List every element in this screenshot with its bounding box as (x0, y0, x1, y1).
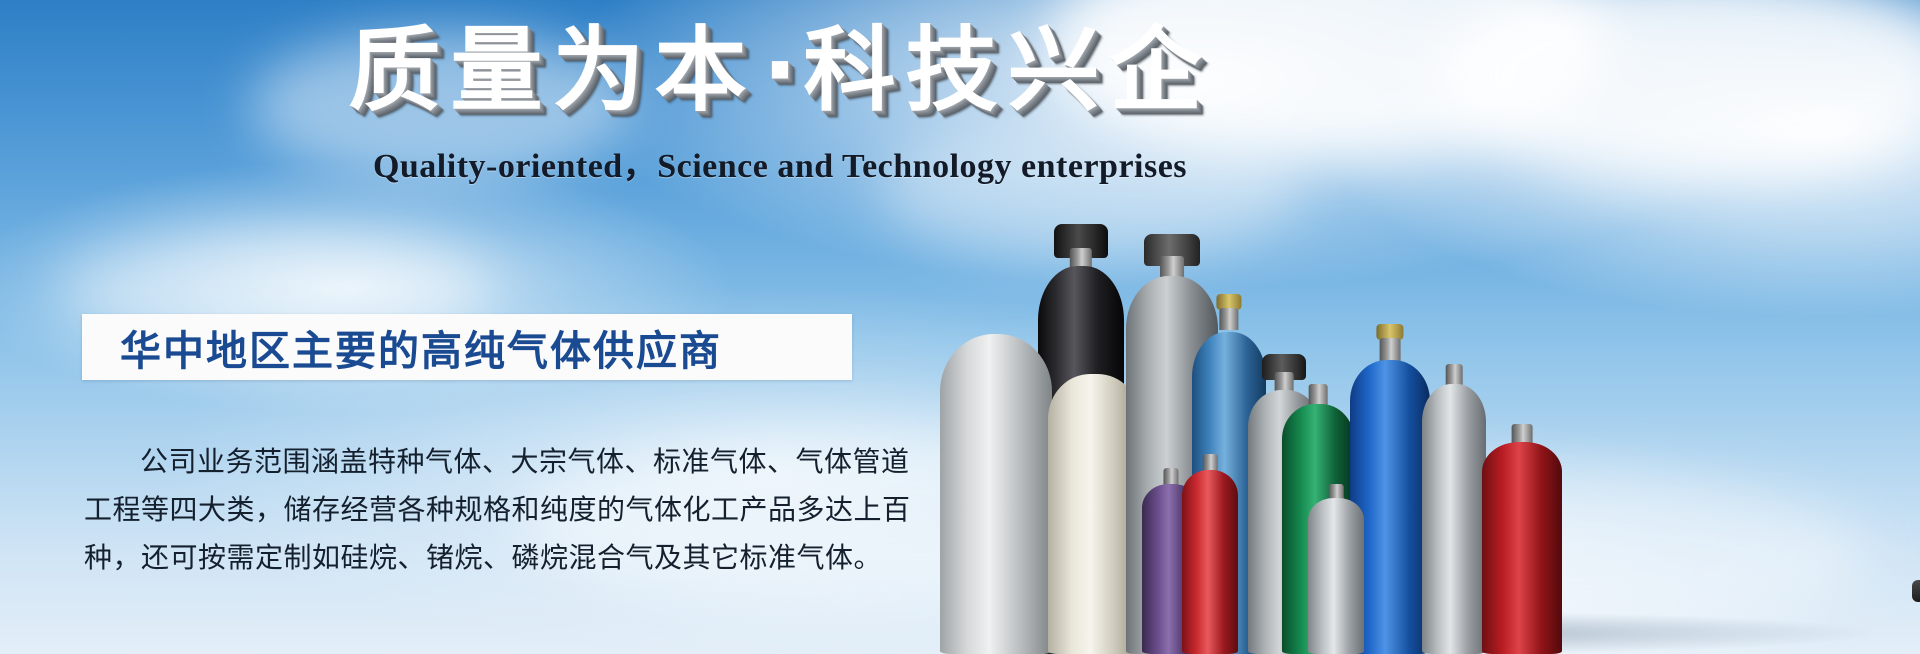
cylinder-red-small (1182, 454, 1238, 654)
highlight-text: 华中地区主要的高纯气体供应商 (82, 317, 722, 377)
paragraph-line-3: 种，还可按需定制如硅烷、锗烷、磷烷混合气及其它标准气体。 (84, 534, 874, 582)
paragraph-line-2: 工程等四大类，储存经营各种规格和纯度的气体化工产品多达上百 (84, 486, 874, 534)
headline-left: 质量为本 (349, 17, 757, 124)
gas-cylinders-photo (930, 0, 1920, 654)
cylinder-lying-valve (1912, 580, 1920, 602)
cylinder-aluminium-short (1308, 484, 1364, 654)
paragraph-line-1: 公司业务范围涵盖特种气体、大宗气体、标准气体、气体管道 (84, 438, 874, 486)
cylinder-white-large (940, 334, 1052, 654)
promo-banner: 质量为本·科技兴企 Quality-oriented，Science and T… (0, 0, 1920, 654)
cylinder-aluminium (1422, 364, 1486, 654)
highlight-box: 华中地区主要的高纯气体供应商 (82, 314, 852, 380)
headline-separator: · (757, 17, 804, 124)
banner-paragraph: 公司业务范围涵盖特种气体、大宗气体、标准气体、气体管道 工程等四大类，储存经营各… (84, 438, 874, 582)
cylinder-red-large (1482, 424, 1562, 654)
